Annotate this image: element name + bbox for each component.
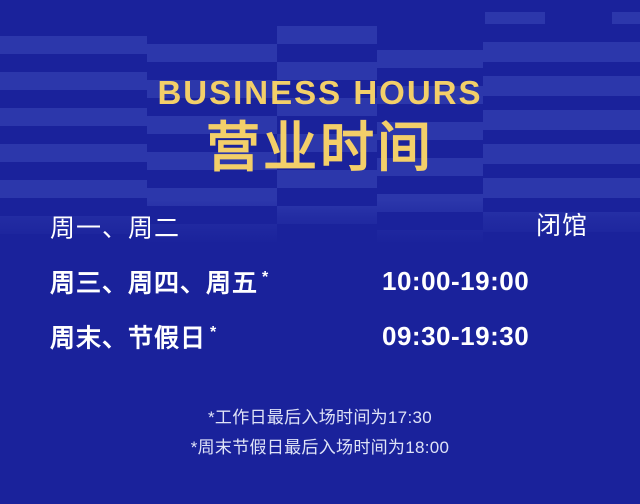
schedule-row-monday-tuesday: 周一、周二 闭馆 [0,198,640,253]
stripe-block-top-right-b [612,0,640,24]
footnote-weekend-last-entry: *周末节假日最后入场时间为18:00 [0,433,640,463]
page-title-chinese: 营业时间 [0,116,640,180]
footnote-list: *工作日最后入场时间为17:30 *周末节假日最后入场时间为18:00 [0,403,640,463]
schedule-row-days-text: 周一、周二 [50,214,180,242]
schedule-row-days: 周三、周四、周五* [50,263,268,298]
schedule-row-wednesday-friday: 周三、周四、周五* 10:00-19:00 [0,253,640,308]
stripe-block-top-right-a [485,0,545,24]
page-title-english: BUSINESS HOURS [0,74,640,112]
schedule-row-hours: 09:30-19:30 [382,321,529,351]
schedule-row-days-text: 周三、周四、周五 [50,269,258,297]
schedule-row-asterisk: * [210,324,216,341]
schedule-row-hours: 10:00-19:00 [382,266,529,296]
schedule-row-days: 周一、周二 [50,208,184,243]
schedule-row-days-text: 周末、节假日 [50,324,206,352]
schedule-row-weekend-holiday: 周末、节假日* 09:30-19:30 [0,308,640,363]
business-hours-poster: BUSINESS HOURS 营业时间 周一、周二 闭馆 周三、周四、周五* 1… [0,0,640,504]
schedule-row-asterisk: * [262,269,268,286]
schedule-row-hours: 闭馆 [536,211,588,241]
schedule-list: 周一、周二 闭馆 周三、周四、周五* 10:00-19:00 周末、节假日* 0… [0,198,640,363]
footnote-weekday-last-entry: *工作日最后入场时间为17:30 [0,403,640,433]
schedule-row-days: 周末、节假日* [50,318,216,353]
